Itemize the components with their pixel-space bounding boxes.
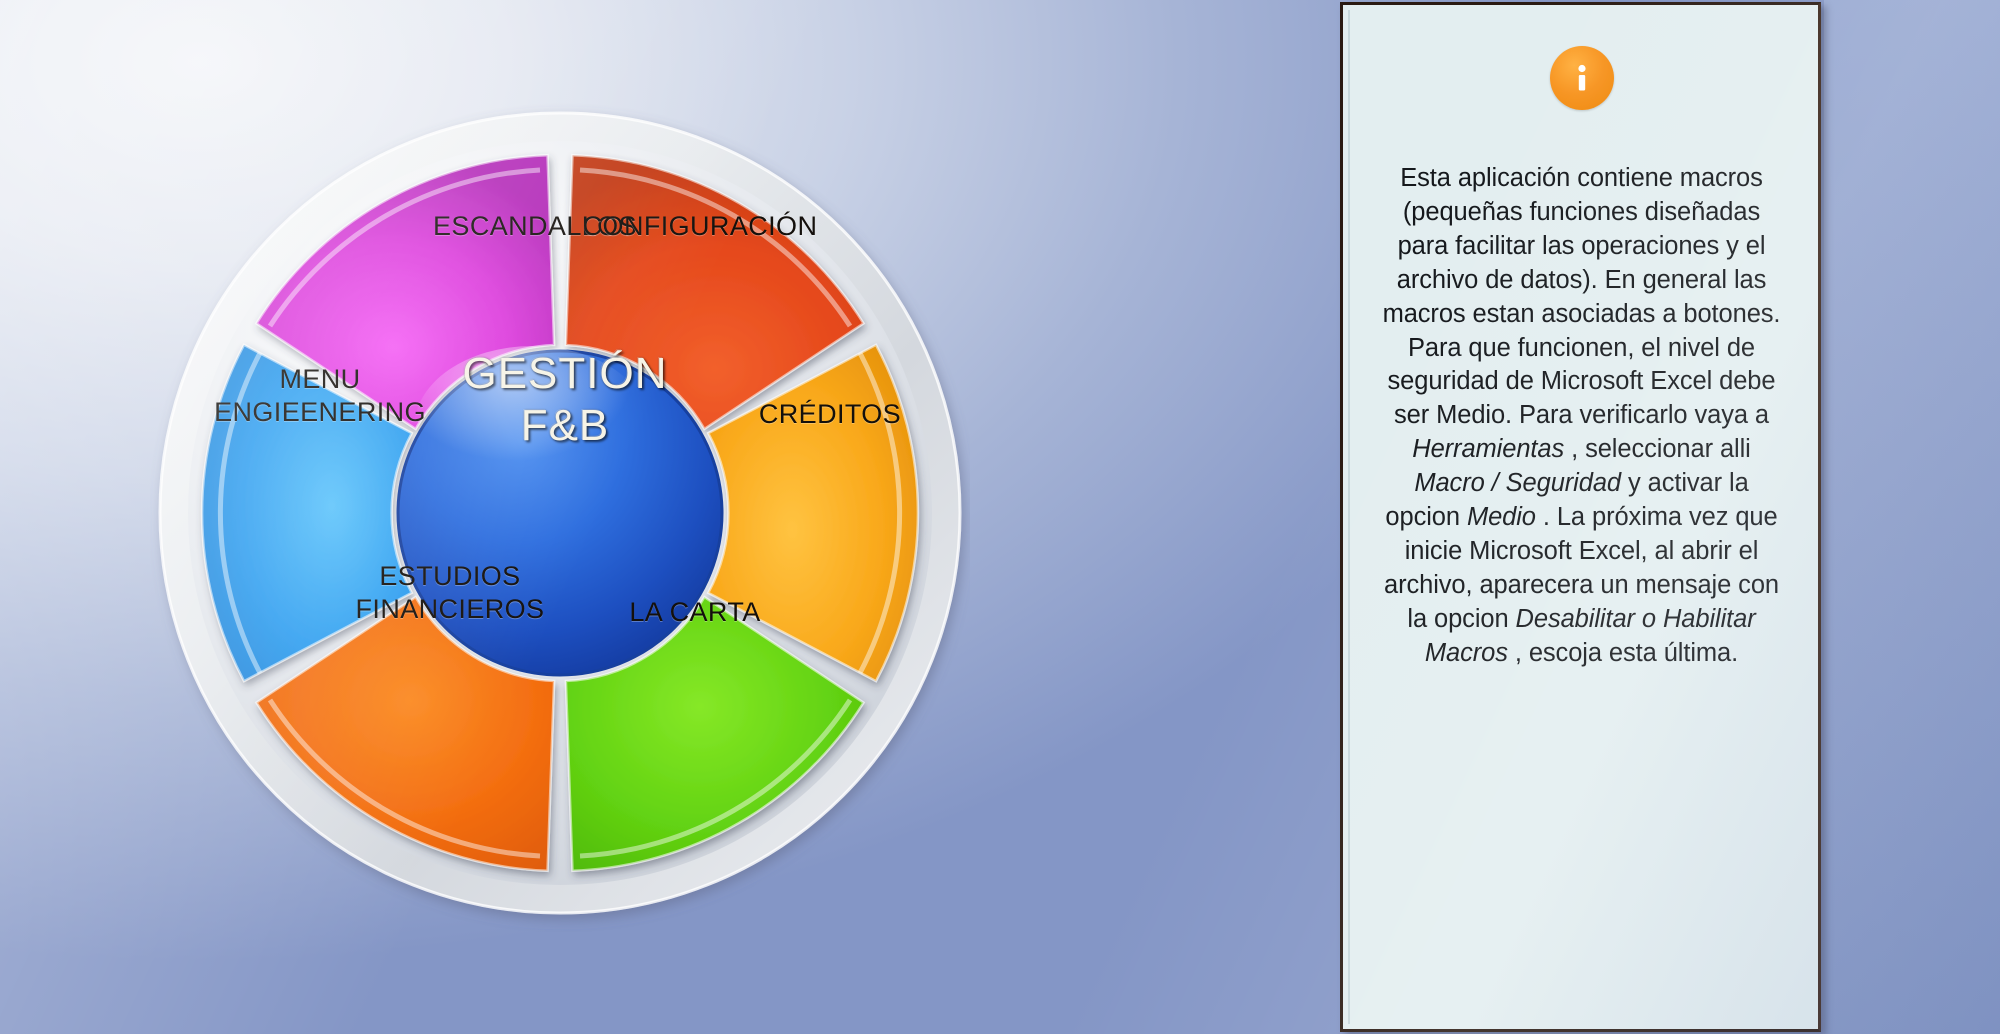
slide-canvas: ESCANDALLOS CONFIGURACIÓN CRÉDITOS LA CA… xyxy=(0,0,2000,1034)
body-text: Esta aplicación contiene macros (pequeña… xyxy=(1383,164,1781,429)
background-strip-right xyxy=(1824,0,2000,1034)
body-text: , escoja esta última. xyxy=(1508,639,1738,667)
wheel-svg xyxy=(150,8,970,1008)
macros-info-text: Esta aplicación contiene macros (pequeña… xyxy=(1376,162,1787,671)
body-text: , seleccionar alli xyxy=(1564,435,1751,463)
emphasis-text: Medio xyxy=(1467,503,1536,531)
emphasis-text: Macro / Seguridad xyxy=(1414,469,1621,497)
info-icon xyxy=(1550,46,1614,110)
wheel-hub[interactable] xyxy=(398,346,722,675)
macros-info-panel: Esta aplicación contiene macros (pequeña… xyxy=(1340,2,1821,1032)
emphasis-text: Herramientas xyxy=(1412,435,1564,463)
gestion-fyb-wheel: ESCANDALLOS CONFIGURACIÓN CRÉDITOS LA CA… xyxy=(150,8,970,1008)
